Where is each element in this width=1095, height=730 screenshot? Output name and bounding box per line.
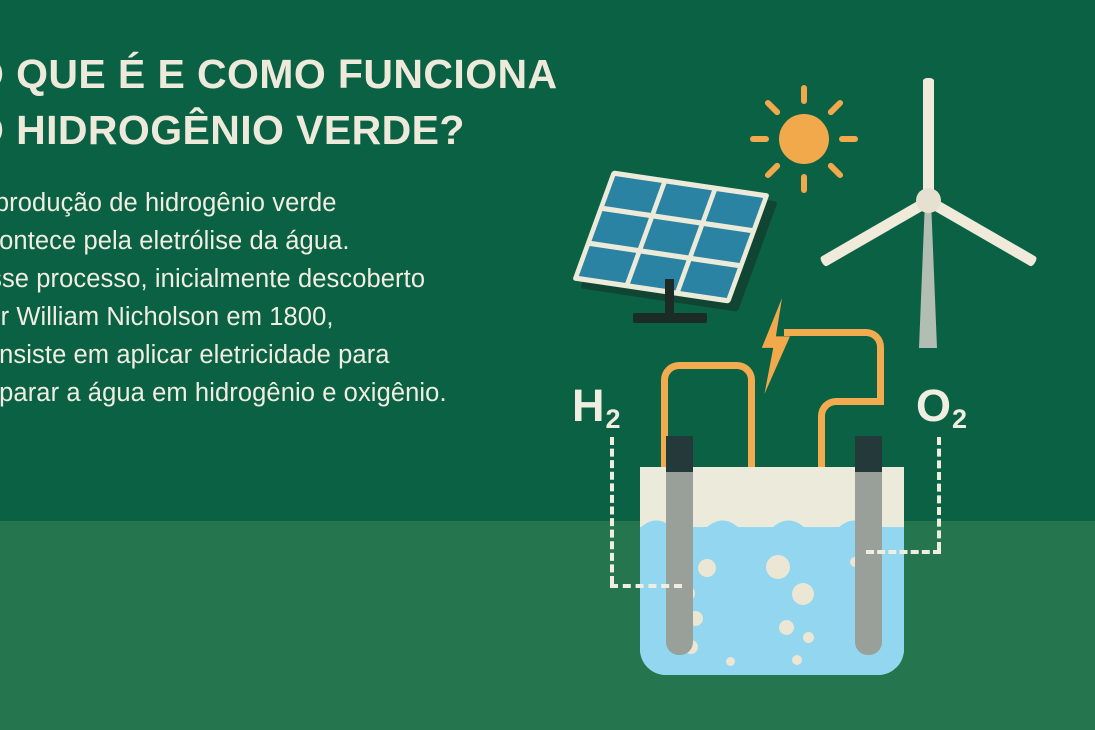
o2-leader-vertical <box>937 437 941 550</box>
electrode-cathode <box>666 470 693 655</box>
solar-panel-base <box>633 313 707 323</box>
gas-bubble <box>698 559 716 577</box>
electrode-cap-right <box>855 436 882 472</box>
page-title: O QUE É E COMO FUNCIONA O HIDROGÊNIO VER… <box>0 46 692 158</box>
sun-ray <box>801 174 807 193</box>
h2-leader-horizontal <box>610 584 682 588</box>
sun-ray <box>801 85 807 104</box>
gas-bubble <box>792 583 814 605</box>
gas-bubble <box>792 655 802 665</box>
hydrogen-subscript: 2 <box>606 404 621 434</box>
sun-ray <box>750 136 769 142</box>
gas-bubble <box>803 632 814 643</box>
o2-leader-horizontal <box>866 550 941 554</box>
turbine-blade <box>923 78 934 206</box>
electrode-anode <box>855 470 882 655</box>
label-oxygen: O2 <box>916 383 966 428</box>
label-hydrogen: H2 <box>572 383 620 428</box>
paragraph-line: consiste em aplicar eletricidade para <box>0 336 692 374</box>
wind-turbine-icon <box>828 56 1078 366</box>
h2-leader-vertical <box>610 437 614 584</box>
infographic-canvas: O QUE É E COMO FUNCIONA O HIDROGÊNIO VER… <box>0 0 1095 730</box>
turbine-hub <box>916 188 941 213</box>
gas-bubble <box>726 657 735 666</box>
electrode-cap-left <box>666 436 693 472</box>
sun-disc <box>779 114 829 164</box>
gas-bubble <box>766 555 790 579</box>
title-line-1: O QUE É E COMO FUNCIONA <box>0 46 692 102</box>
solar-cell <box>655 184 712 221</box>
oxygen-symbol: O <box>916 380 951 431</box>
electrode-wire-upper-right <box>784 329 884 405</box>
solar-cell <box>604 176 661 213</box>
solar-panel-icon <box>578 176 778 331</box>
solar-cell <box>681 261 738 298</box>
hydrogen-symbol: H <box>572 380 605 431</box>
solar-cell <box>642 219 699 256</box>
title-line-2: O HIDROGÊNIO VERDE? <box>0 102 692 158</box>
gas-bubble <box>779 620 794 635</box>
sun-ray <box>764 99 782 117</box>
solar-cell <box>579 246 636 283</box>
solar-cell <box>630 254 687 291</box>
solar-cell <box>706 191 763 228</box>
oxygen-subscript: 2 <box>952 404 967 434</box>
solar-cell <box>693 226 750 263</box>
solar-cell <box>592 211 649 248</box>
